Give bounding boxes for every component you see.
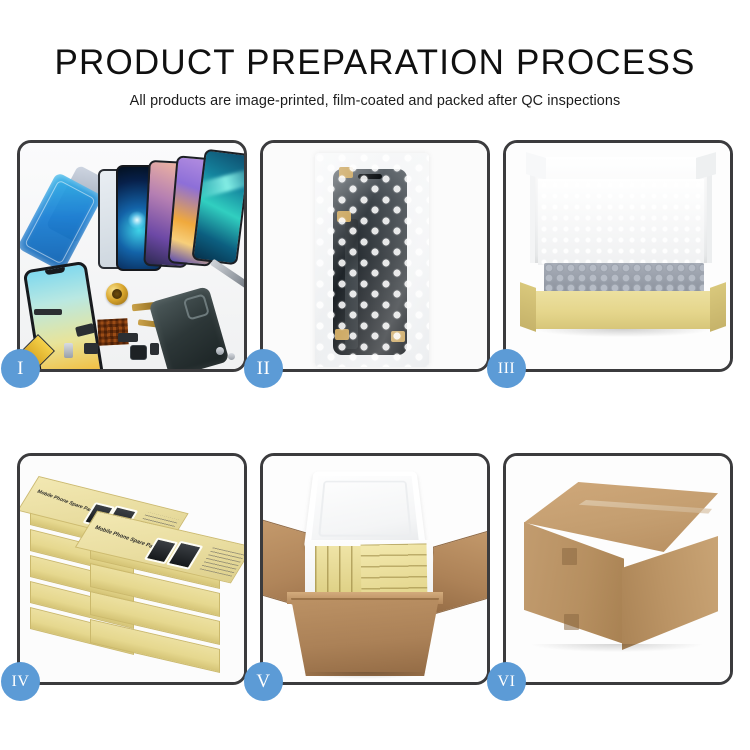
step-5-drop-shadow bbox=[299, 672, 431, 679]
step-3-badge: III bbox=[487, 349, 526, 388]
page-title: PRODUCT PREPARATION PROCESS bbox=[0, 0, 750, 82]
step-3-image bbox=[506, 143, 730, 369]
yellow-box-base-icon bbox=[528, 291, 718, 329]
part-speaker-coil-icon bbox=[106, 283, 128, 305]
process-step-1[interactable]: I bbox=[17, 140, 247, 372]
page-subtitle: All products are image-printed, film-coa… bbox=[0, 82, 750, 110]
part-connector-icon bbox=[84, 343, 98, 354]
step-4-badge: IV bbox=[1, 662, 40, 701]
plastic-sheen-overlay bbox=[315, 153, 429, 367]
step-5-image bbox=[263, 456, 487, 682]
box-spec-lines-front bbox=[200, 547, 244, 576]
step-1-image bbox=[20, 143, 244, 369]
box-label-back: Mobile Phone Spare Parts bbox=[36, 489, 98, 515]
page-header: PRODUCT PREPARATION PROCESS All products… bbox=[0, 0, 750, 110]
process-step-6[interactable]: VI bbox=[503, 453, 733, 685]
foam-sheet-icon bbox=[538, 179, 704, 265]
step-6-drop-shadow bbox=[532, 644, 702, 652]
part-screw-2-icon bbox=[228, 353, 235, 360]
step-3-drop-shadow bbox=[536, 329, 710, 337]
step-4-image: Mobile Phone Spare Parts Mobile Phone Sp… bbox=[20, 456, 244, 682]
step-6-image bbox=[506, 456, 730, 682]
part-module-icon bbox=[118, 333, 138, 342]
step-1-badge: I bbox=[1, 349, 40, 388]
process-step-2[interactable]: II bbox=[260, 140, 490, 372]
part-screw-icon bbox=[216, 347, 224, 355]
process-step-grid: I II III bbox=[17, 140, 733, 685]
yellow-box-stack-icon: Mobile Phone Spare Parts Mobile Phone Sp… bbox=[24, 468, 244, 676]
carton-tab-lower-icon bbox=[564, 614, 579, 630]
step-6-badge: VI bbox=[487, 662, 526, 701]
foam-box-lid-icon bbox=[304, 471, 426, 549]
part-chip-icon bbox=[34, 309, 62, 315]
part-sim-tray-icon bbox=[64, 343, 73, 358]
part-camera-icon bbox=[130, 345, 147, 360]
process-step-3[interactable]: III bbox=[503, 140, 733, 372]
process-step-4[interactable]: Mobile Phone Spare Parts Mobile Phone Sp… bbox=[17, 453, 247, 685]
step-5-badge: V bbox=[244, 662, 283, 701]
step-2-image bbox=[263, 143, 487, 369]
carton-tab-upper-icon bbox=[562, 548, 577, 565]
process-step-5[interactable]: V bbox=[260, 453, 490, 685]
carton-front-panel-icon bbox=[291, 598, 439, 676]
step-2-badge: II bbox=[244, 349, 283, 388]
bubble-wrap-bag-icon bbox=[315, 153, 429, 367]
part-vibrator-icon bbox=[150, 343, 159, 355]
